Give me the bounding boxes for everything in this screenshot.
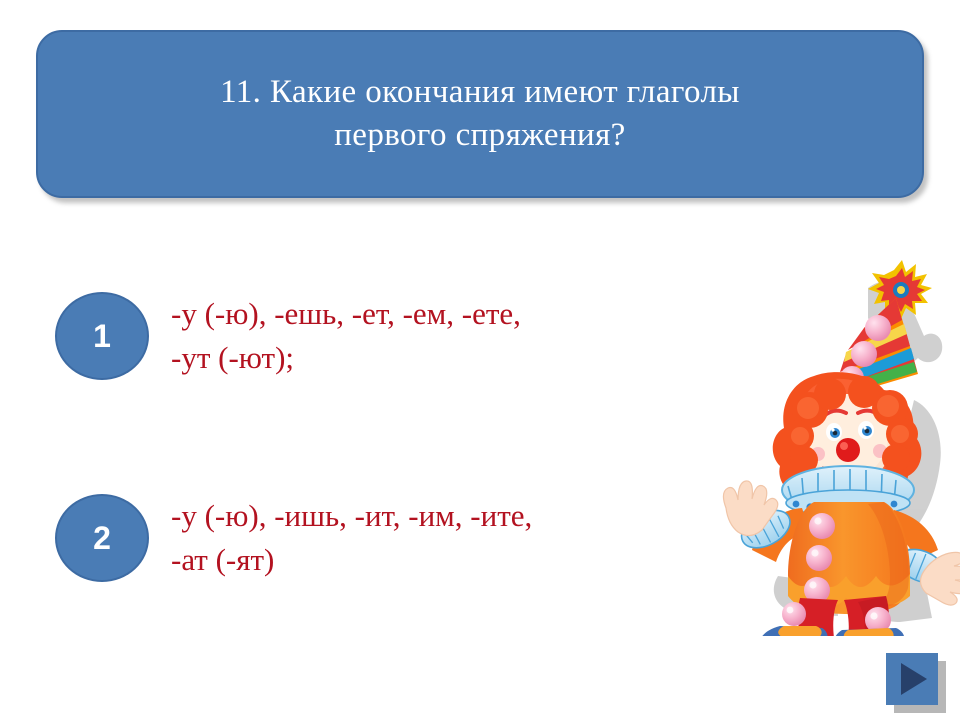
answer-option-2[interactable]: 2 -у (-ю), -ишь, -ит, -им, -ите, -ат (-я…	[55, 492, 532, 582]
pants-pompom	[865, 607, 891, 633]
clown-eye-right	[858, 421, 874, 439]
clown-illustration	[718, 258, 960, 636]
clown-arm-left	[723, 481, 810, 562]
clown-tunic	[788, 502, 910, 614]
pants-pompom	[782, 602, 806, 626]
clown-pants	[782, 596, 891, 636]
hat-pompom-button	[851, 341, 877, 367]
hat-pompom-button	[865, 315, 891, 341]
answer-badge-2[interactable]: 2	[55, 494, 149, 582]
clown-hand-right	[920, 552, 960, 605]
tunic-pompom-button	[804, 577, 830, 603]
answer-text-2: -у (-ю), -ишь, -ит, -им, -ите, -ат (-ят)	[171, 492, 532, 582]
clown-shoes	[760, 626, 905, 636]
page-title: 11. Какие окончания имеют глаголы первог…	[220, 71, 740, 157]
answer-badge-2-number: 2	[93, 522, 111, 554]
clown-eyebrow-right	[858, 411, 880, 416]
answer-text-1: -у (-ю), -ешь, -ет, -ем, -ете, -ут (-ют)…	[171, 290, 521, 380]
clown-hair-front	[782, 376, 918, 474]
answer-option-1[interactable]: 1 -у (-ю), -ешь, -ет, -ем, -ете, -ут (-ю…	[55, 290, 521, 380]
hat-pompom-icon	[868, 260, 932, 319]
answer-badge-1[interactable]: 1	[55, 292, 149, 380]
play-triangle-icon	[901, 663, 927, 695]
next-slide-button[interactable]	[886, 653, 938, 705]
clown-hair	[773, 372, 922, 509]
answer-badge-1-number: 1	[93, 320, 111, 352]
tunic-pompom-button	[809, 513, 835, 539]
clown-nose-icon	[836, 438, 860, 462]
clown-eyebrow-left	[824, 411, 846, 416]
slide-canvas: 11. Какие окончания имеют глаголы первог…	[0, 0, 960, 720]
clown-arm-right	[886, 510, 960, 605]
clown-hat	[836, 260, 932, 398]
clown-mouth	[822, 466, 874, 481]
clown-hand-left	[723, 481, 777, 536]
tunic-pompom-button	[806, 545, 832, 571]
clown-shadow	[774, 281, 944, 622]
clown-collar	[782, 466, 914, 516]
question-title-banner: 11. Какие окончания имеют глаголы первог…	[36, 30, 924, 198]
clown-eye-left	[826, 423, 842, 441]
clown-face	[804, 394, 892, 486]
hat-pompom-button	[840, 366, 864, 390]
